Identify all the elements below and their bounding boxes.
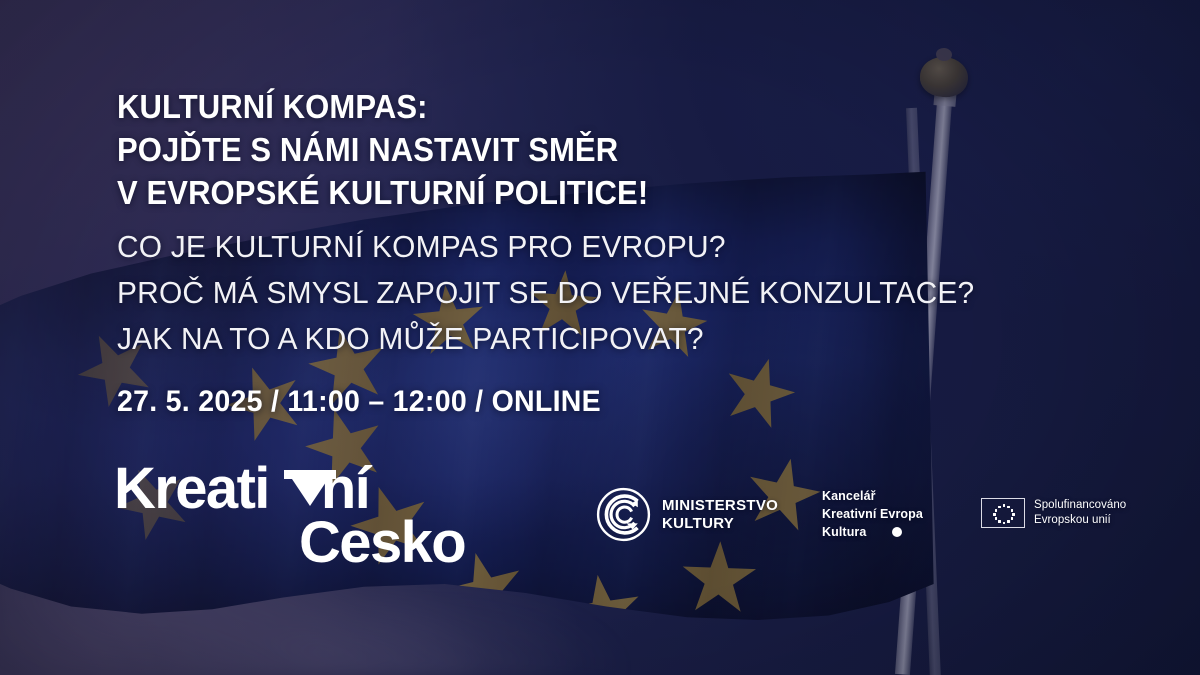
eu-cofunding-label: Spolufinancováno Evropskou unií	[1034, 498, 1126, 528]
headline: KULTURNÍ KOMPAS: POJĎTE S NÁMI NASTAVIT …	[117, 86, 648, 215]
ministerstvo-kultury-logo: MINISTERSTVO KULTURY	[596, 487, 778, 542]
eu-flag-star	[1003, 504, 1006, 507]
subheadline: CO JE KULTURNÍ KOMPAS PRO EVROPU? PROČ M…	[117, 224, 974, 363]
eu-flag-icon	[981, 498, 1025, 528]
caron-triangle	[292, 479, 328, 506]
headline-line-3: V EVROPSKÉ KULTURNÍ POLITICE!	[117, 172, 648, 215]
eu-flag-star	[1011, 509, 1014, 512]
kreativni-cesko-line-2: Cesko	[299, 514, 465, 572]
eu-flag-star	[993, 513, 996, 516]
eu-flag-star	[1011, 517, 1014, 520]
poster-content: KULTURNÍ KOMPAS: POJĎTE S NÁMI NASTAVIT …	[0, 0, 1200, 675]
headline-line-1: KULTURNÍ KOMPAS:	[117, 86, 648, 129]
headline-line-2: POJĎTE S NÁMI NASTAVIT SMĚR	[117, 129, 648, 172]
eu-flag-star	[998, 520, 1001, 523]
subheadline-line-2: PROČ MÁ SMYSL ZAPOJIT SE DO VEŘEJNÉ KONZ…	[117, 270, 974, 316]
eu-flag-star	[995, 509, 998, 512]
caron-triangle-icon	[284, 470, 336, 506]
kke-line-3: Kultura	[822, 523, 866, 541]
kreativni-cesko-logo: Kreatiní Cesko	[114, 460, 494, 575]
subheadline-line-1: CO JE KULTURNÍ KOMPAS PRO EVROPU?	[117, 224, 974, 270]
event-datetime: 27. 5. 2025 / 11:00 – 12:00 / ONLINE	[117, 385, 601, 419]
eu-flag-star	[995, 517, 998, 520]
ministry-label-line-1: MINISTERSTVO	[662, 497, 778, 514]
caron-bar	[284, 470, 336, 479]
kancelar-kreativni-evropa-logo: Kancelář Kreativní Evropa Kultura	[822, 487, 923, 541]
subheadline-line-3: JAK NA TO A KDO MŮŽE PARTICIPOVAT?	[117, 316, 974, 362]
eu-flag-star	[1003, 522, 1006, 525]
kke-dot-icon	[892, 527, 902, 537]
eu-cofunding-line-1: Spolufinancováno	[1034, 498, 1126, 513]
ministry-label: MINISTERSTVO KULTURY	[662, 497, 778, 532]
eu-cofunding-line-2: Evropskou unií	[1034, 513, 1126, 528]
kke-line-3-row: Kultura	[822, 523, 923, 541]
ministry-label-line-2: KULTURY	[662, 515, 778, 532]
eu-flag-star	[1007, 506, 1010, 509]
event-poster: KULTURNÍ KOMPAS: POJĎTE S NÁMI NASTAVIT …	[0, 0, 1200, 675]
eu-flag-star	[998, 506, 1001, 509]
eu-flag-star	[1007, 520, 1010, 523]
kke-line-2: Kreativní Evropa	[822, 505, 923, 523]
kke-line-1: Kancelář	[822, 487, 923, 505]
kc-prefix: Kreati	[114, 456, 269, 521]
eu-flag-star	[1012, 513, 1015, 516]
eu-cofunding-logo: Spolufinancováno Evropskou unií	[981, 498, 1126, 528]
ministry-circle-icon	[596, 487, 651, 542]
